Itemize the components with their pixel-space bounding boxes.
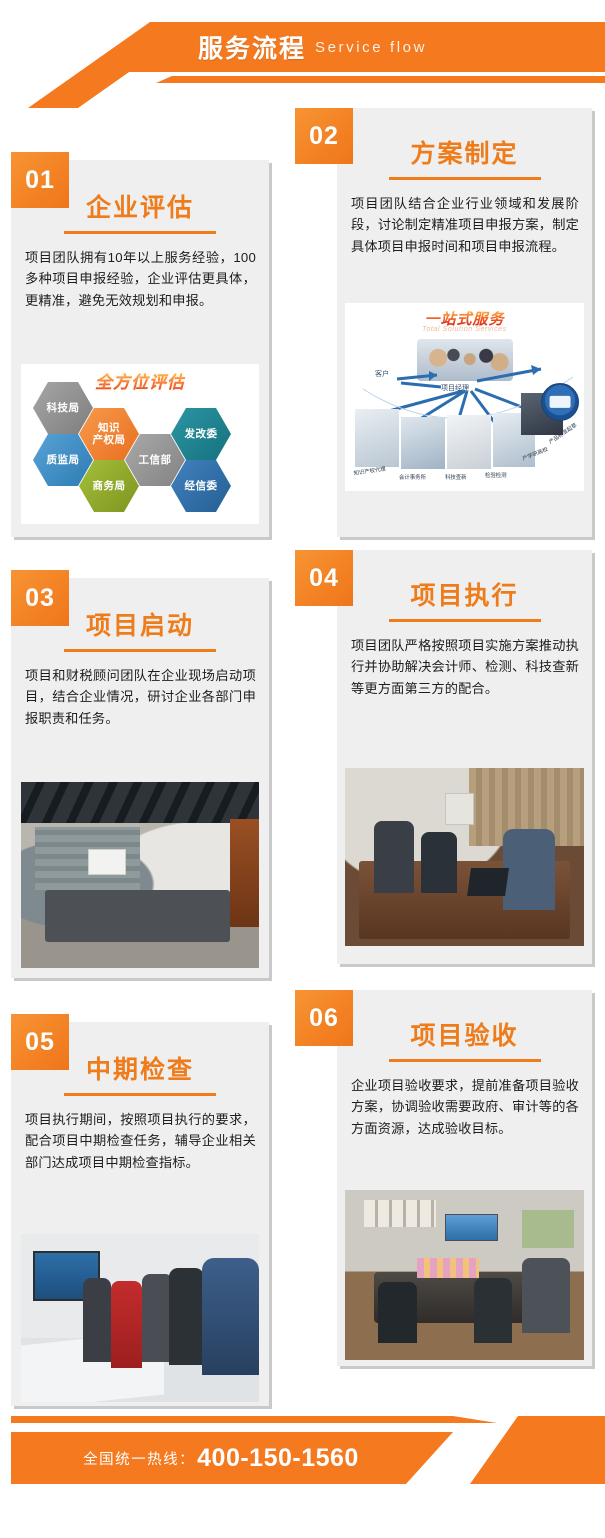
card-number-badge-06: 06 xyxy=(295,990,353,1046)
process-card-03[interactable]: 项目启动 项目和财税顾问团队在企业现场启动项目，结合企业情况，研讨企业各部门申报… xyxy=(11,578,269,978)
photo-whiteboard-03 xyxy=(88,849,126,875)
card-body-02: 项目团队结合企业行业领域和发展阶段，讨论制定精准项目申报方案，制定具体项目申报时… xyxy=(337,180,592,267)
photo-aircon-04 xyxy=(445,793,474,825)
card-title-04: 项目执行 xyxy=(337,572,592,612)
page-footer: 全国统一热线： 400-150-1560 xyxy=(0,1416,605,1538)
service-label-customer: 客户 xyxy=(375,369,389,379)
card-number-badge-05: 05 xyxy=(11,1014,69,1070)
photo-ceiling-03 xyxy=(21,782,259,823)
card-photo-03 xyxy=(21,782,259,968)
service-photo-3 xyxy=(447,415,491,469)
media-hexagon-diagram-01: 全方位评估 科技局 知识 产权局 质监局 工信部 商务局 发改委 经信委 xyxy=(21,364,259,524)
photo-person-a-05 xyxy=(83,1278,112,1362)
photo-certificates-06 xyxy=(364,1200,436,1227)
service-label-pm: 项目经理 xyxy=(441,383,469,393)
card-number-badge-02: 02 xyxy=(295,108,353,164)
service-bottom-label-2: 会计事务所 xyxy=(399,473,426,481)
service-photo-1 xyxy=(355,409,399,467)
service-bottom-label-3: 科技查新 xyxy=(445,473,467,481)
footer-wedge-decoration xyxy=(430,1416,605,1484)
photo-person-c-05 xyxy=(169,1268,205,1365)
hex-label-keji: 科技局 xyxy=(47,402,80,414)
process-card-01[interactable]: 企业评估 项目团队拥有10年以上服务经验，100多种项目申报经验，企业评估更具体… xyxy=(11,160,269,537)
hex-label-swj: 商务局 xyxy=(93,480,126,492)
hotline-label: 全国统一热线： xyxy=(83,1448,195,1469)
card-number-badge-04: 04 xyxy=(295,550,353,606)
process-card-05[interactable]: 中期检查 项目执行期间，按照项目执行的要求，配合项目中期检查任务，辅导企业相关部… xyxy=(11,1022,269,1406)
photo-person-d-05 xyxy=(202,1258,259,1376)
photo-chair-b-06 xyxy=(474,1278,512,1343)
card-photo-04 xyxy=(345,768,584,946)
process-card-06[interactable]: 项目验收 企业项目验收要求，提前准备项目验收方案，协调验收需要政府、审计等的各方… xyxy=(337,990,592,1366)
card-body-03: 项目和财税顾问团队在企业现场启动项目，结合企业情况，研讨企业各部门申报职责和任务… xyxy=(11,652,269,739)
card-body-04: 项目团队严格按照项目实施方案推动执行并协助解决会计师、检测、科技查新等更方面第三… xyxy=(337,622,592,709)
card-body-01: 项目团队拥有10年以上服务经验，100多种项目申报经验，企业评估更具体，更精准，… xyxy=(11,234,269,321)
media-service-diagram-02: 一站式服务 Total Solution Services 客户 项目经 xyxy=(345,303,584,491)
footer-accent-line xyxy=(11,1416,594,1423)
hex-label-zjj: 质监局 xyxy=(47,454,80,466)
card-photo-06 xyxy=(345,1190,584,1360)
photo-chair-c-06 xyxy=(522,1258,570,1333)
photo-greenboard-06 xyxy=(522,1210,575,1247)
photo-chair-a-06 xyxy=(378,1282,416,1343)
footer-hotline-group: 全国统一热线： 400-150-1560 xyxy=(11,1432,431,1484)
photo-wood-column-03 xyxy=(230,819,259,927)
card-title-06: 项目验收 xyxy=(337,1012,592,1052)
photo-person-a-04 xyxy=(374,821,415,892)
photo-person-red-05 xyxy=(111,1281,142,1368)
process-card-04[interactable]: 项目执行 项目团队严格按照项目实施方案推动执行并协助解决会计师、检测、科技查新等… xyxy=(337,550,592,964)
photo-person-c-04 xyxy=(503,829,556,911)
photo-table-03 xyxy=(45,890,231,942)
card-body-06: 企业项目验收要求，提前准备项目验收方案，协调验收需要政府、审计等的各方面资源，达… xyxy=(337,1062,592,1149)
process-card-grid: 企业评估 项目团队拥有10年以上服务经验，100多种项目申报经验，企业评估更具体… xyxy=(0,0,605,1538)
service-seal-icon xyxy=(541,383,579,421)
card-body-05: 项目执行期间，按照项目执行的要求，配合项目中期检查任务，辅导企业相关部门达成项目… xyxy=(11,1096,269,1183)
service-bottom-label-4: 检验检测 xyxy=(485,471,507,479)
hex-label-fgw: 发改委 xyxy=(185,428,218,440)
photo-flowers-06 xyxy=(417,1258,479,1278)
card-number-badge-03: 03 xyxy=(11,570,69,626)
card-title-02: 方案制定 xyxy=(337,130,592,170)
hex-label-jxw: 经信委 xyxy=(185,480,218,492)
process-card-02[interactable]: 方案制定 项目团队结合企业行业领域和发展阶段，讨论制定精准项目申报方案，制定具体… xyxy=(337,108,592,537)
service-photo-2 xyxy=(401,417,445,469)
hex-label-zscqj: 知识 产权局 xyxy=(93,422,126,446)
hotline-number[interactable]: 400-150-1560 xyxy=(197,1444,359,1473)
photo-screen-06 xyxy=(445,1214,498,1241)
card-photo-05 xyxy=(21,1234,259,1402)
photo-laptop-04 xyxy=(467,868,509,896)
photo-person-b-04 xyxy=(421,832,457,893)
hex-label-gxb: 工信部 xyxy=(139,454,172,466)
diagram-caption-01: 全方位评估 xyxy=(95,368,185,393)
card-number-badge-01: 01 xyxy=(11,152,69,208)
